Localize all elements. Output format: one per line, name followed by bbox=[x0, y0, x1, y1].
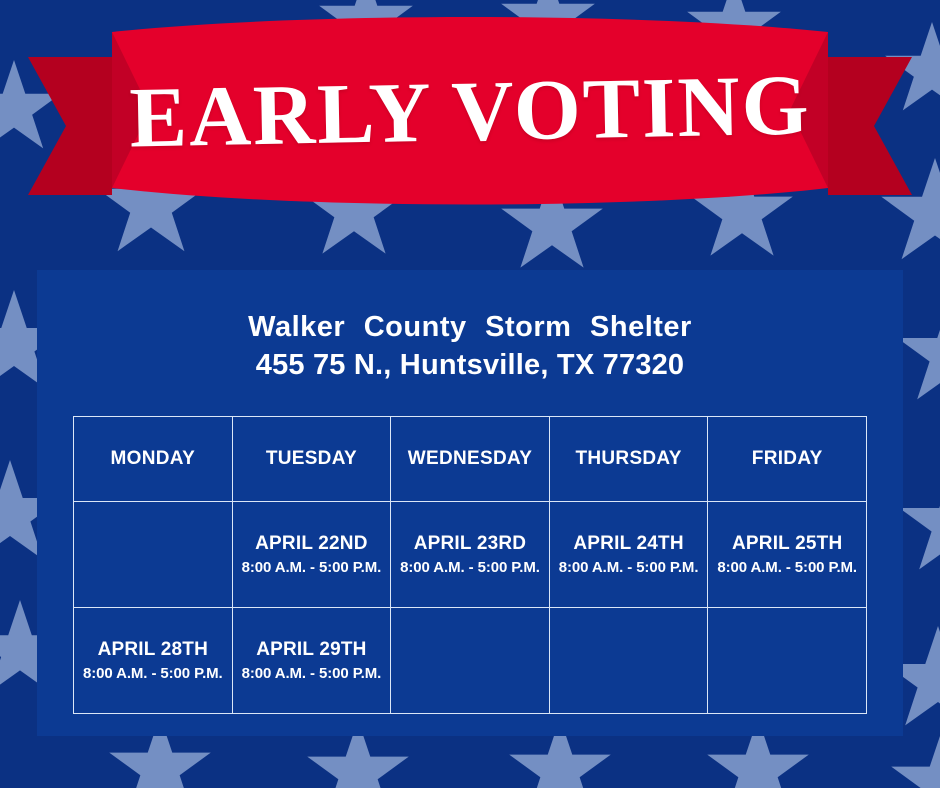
schedule-row: APRIL 22ND8:00 A.M. - 5:00 P.M.APRIL 23R… bbox=[74, 502, 867, 608]
schedule-cell: APRIL 23RD8:00 A.M. - 5:00 P.M. bbox=[391, 502, 550, 608]
background-star-icon bbox=[890, 730, 940, 788]
venue-block: Walker County Storm Shelter 455 75 N., H… bbox=[37, 270, 903, 385]
schedule-column-header: FRIDAY bbox=[708, 417, 867, 502]
schedule-table-head: MONDAYTUESDAYWEDNESDAYTHURSDAYFRIDAY bbox=[74, 417, 867, 502]
venue-name: Walker County Storm Shelter bbox=[37, 308, 903, 346]
schedule-column-header: THURSDAY bbox=[549, 417, 708, 502]
banner-title: EARLY VOTING bbox=[0, 59, 940, 163]
schedule-table-wrapper: MONDAYTUESDAYWEDNESDAYTHURSDAYFRIDAY APR… bbox=[73, 416, 867, 714]
schedule-cell-date: APRIL 23RD bbox=[391, 533, 549, 555]
schedule-cell-date: APRIL 24TH bbox=[550, 533, 708, 555]
schedule-column-header: WEDNESDAY bbox=[391, 417, 550, 502]
early-voting-poster: EARLY VOTING Walker County Storm Shelter… bbox=[0, 0, 940, 788]
schedule-column-header: TUESDAY bbox=[232, 417, 391, 502]
schedule-cell: APRIL 22ND8:00 A.M. - 5:00 P.M. bbox=[232, 502, 391, 608]
schedule-cell-empty bbox=[74, 502, 233, 608]
schedule-cell-empty bbox=[549, 608, 708, 714]
schedule-cell-time: 8:00 A.M. - 5:00 P.M. bbox=[708, 559, 866, 576]
info-panel: Walker County Storm Shelter 455 75 N., H… bbox=[37, 270, 903, 736]
schedule-cell-date: APRIL 25TH bbox=[708, 533, 866, 555]
schedule-column-header: MONDAY bbox=[74, 417, 233, 502]
schedule-table: MONDAYTUESDAYWEDNESDAYTHURSDAYFRIDAY APR… bbox=[73, 416, 867, 714]
venue-address: 455 75 N., Huntsville, TX 77320 bbox=[37, 346, 903, 384]
schedule-cell-empty bbox=[391, 608, 550, 714]
schedule-cell-date: APRIL 29TH bbox=[233, 639, 391, 661]
schedule-cell: APRIL 24TH8:00 A.M. - 5:00 P.M. bbox=[549, 502, 708, 608]
schedule-cell: APRIL 25TH8:00 A.M. - 5:00 P.M. bbox=[708, 502, 867, 608]
schedule-cell-date: APRIL 22ND bbox=[233, 533, 391, 555]
schedule-header-row: MONDAYTUESDAYWEDNESDAYTHURSDAYFRIDAY bbox=[74, 417, 867, 502]
background-star-icon bbox=[898, 470, 940, 578]
schedule-cell-empty bbox=[708, 608, 867, 714]
schedule-cell-time: 8:00 A.M. - 5:00 P.M. bbox=[233, 665, 391, 682]
schedule-cell: APRIL 29TH8:00 A.M. - 5:00 P.M. bbox=[232, 608, 391, 714]
schedule-cell-time: 8:00 A.M. - 5:00 P.M. bbox=[550, 559, 708, 576]
schedule-cell-time: 8:00 A.M. - 5:00 P.M. bbox=[233, 559, 391, 576]
schedule-row: APRIL 28TH8:00 A.M. - 5:00 P.M.APRIL 29T… bbox=[74, 608, 867, 714]
ribbon-banner: EARLY VOTING bbox=[0, 10, 940, 220]
schedule-cell-date: APRIL 28TH bbox=[74, 639, 232, 661]
schedule-cell-time: 8:00 A.M. - 5:00 P.M. bbox=[391, 559, 549, 576]
schedule-cell-time: 8:00 A.M. - 5:00 P.M. bbox=[74, 665, 232, 682]
schedule-cell: APRIL 28TH8:00 A.M. - 5:00 P.M. bbox=[74, 608, 233, 714]
schedule-table-body: APRIL 22ND8:00 A.M. - 5:00 P.M.APRIL 23R… bbox=[74, 502, 867, 714]
